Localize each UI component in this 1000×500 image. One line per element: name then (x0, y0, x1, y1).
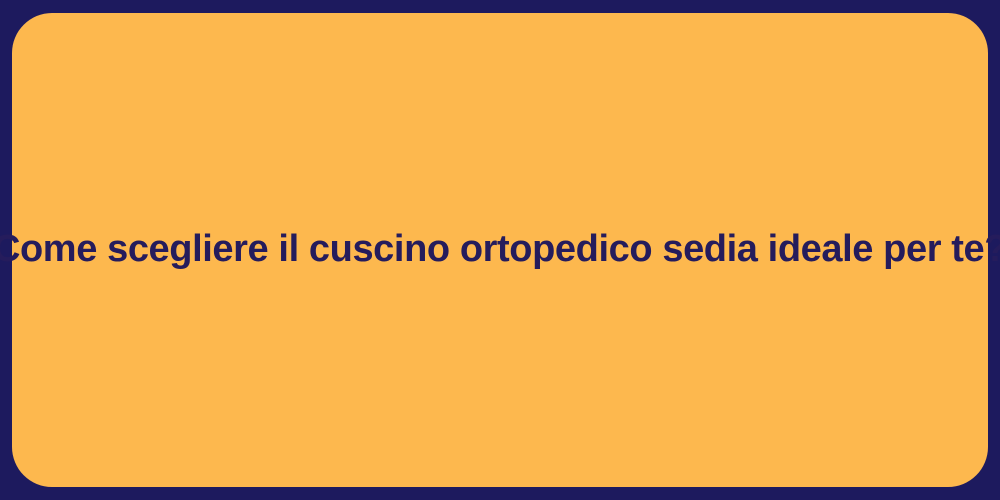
headline-card: Come scegliere il cuscino ortopedico sed… (12, 13, 988, 487)
outer-frame: Come scegliere il cuscino ortopedico sed… (0, 0, 1000, 500)
page-title: Come scegliere il cuscino ortopedico sed… (0, 226, 1000, 274)
